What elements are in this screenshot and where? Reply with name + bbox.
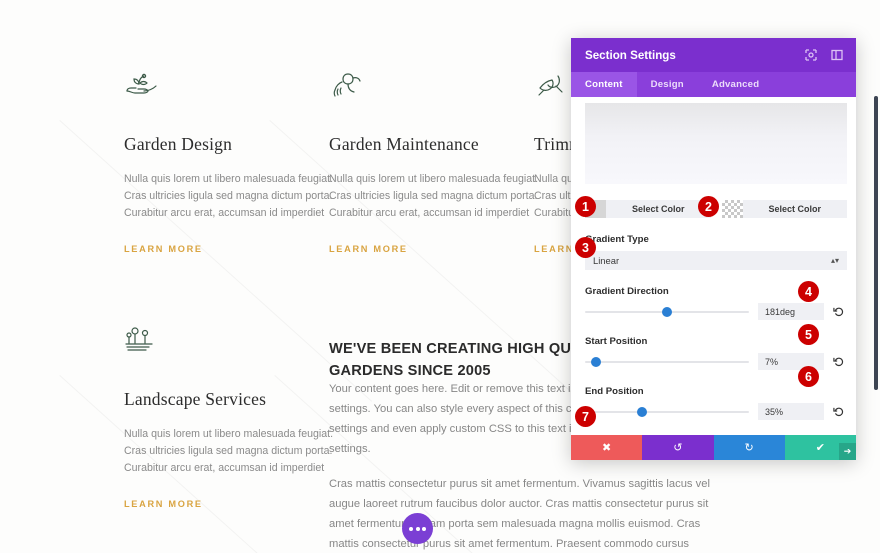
card-text-line: Cras ultricies ligula sed magna dictum p… [124, 443, 329, 460]
card-text-line: Cras ultricies ligula sed magna dictum p… [329, 188, 534, 205]
modal-header: Section Settings [571, 38, 856, 72]
step-badge-2: 2 [698, 196, 719, 217]
gradient-type-label: Gradient Type [585, 234, 847, 245]
learn-more-link[interactable]: LEARN MORE [124, 499, 329, 509]
step-badge-1: 1 [575, 196, 596, 217]
service-card-garden-maintenance: Garden Maintenance Nulla quis lorem ut l… [329, 70, 534, 254]
landscape-trees-icon [124, 325, 329, 359]
step-badge-7: 7 [575, 406, 596, 427]
hand-seedling-icon [124, 70, 329, 104]
gradient-direction-row: 181deg [585, 303, 847, 320]
gradient-color-start[interactable]: Select Color [585, 200, 711, 218]
save-button[interactable]: ✔ ➔ [785, 435, 856, 460]
slider-track [585, 361, 749, 363]
card-text-line: Cras ultricies ligula sed magna dictum p… [124, 188, 329, 205]
redo-button[interactable]: ↻ [714, 435, 785, 460]
slider-knob[interactable] [591, 357, 601, 367]
section-settings-modal: Section Settings Content Design Advanced [571, 38, 856, 460]
resize-grip-icon[interactable]: ➔ [839, 443, 856, 460]
end-position-slider[interactable] [585, 405, 749, 419]
service-card-garden-design: Garden Design Nulla quis lorem ut libero… [124, 70, 329, 254]
tab-advanced[interactable]: Advanced [698, 72, 773, 97]
reset-icon[interactable] [833, 356, 847, 367]
step-badge-5: 5 [798, 324, 819, 345]
undo-button[interactable]: ↺ [642, 435, 713, 460]
gradient-direction-slider[interactable] [585, 305, 749, 319]
expand-icon[interactable] [801, 46, 820, 65]
cancel-button[interactable]: ✖ [571, 435, 642, 460]
gradient-type-value: Linear [593, 255, 619, 266]
end-position-label: End Position [585, 386, 847, 397]
card-text-line: Nulla quis lorem ut libero malesuada feu… [124, 171, 329, 188]
gradient-direction-value[interactable]: 181deg [758, 303, 824, 320]
tab-design[interactable]: Design [637, 72, 698, 97]
modal-footer: ✖ ↺ ↻ ✔ ➔ [571, 435, 856, 460]
card-title: Garden Maintenance [329, 134, 534, 155]
slider-track [585, 411, 749, 413]
chevron-updown-icon: ▴▾ [831, 257, 839, 265]
chat-dot-icon [416, 527, 420, 531]
gradient-color-end[interactable]: Select Color [722, 200, 848, 218]
tab-content[interactable]: Content [571, 72, 637, 97]
card-text-line: Nulla quis lorem ut libero malesuada feu… [124, 426, 329, 443]
card-text-line: Nulla quis lorem ut libero malesuada feu… [329, 171, 534, 188]
body-paragraph: Cras mattis consectetur purus sit amet f… [329, 475, 729, 553]
slider-knob[interactable] [637, 407, 647, 417]
save-check-icon: ✔ [816, 441, 825, 454]
color-swatch-end-icon[interactable] [722, 200, 743, 218]
reset-icon[interactable] [833, 306, 847, 317]
start-position-slider[interactable] [585, 355, 749, 369]
learn-more-link[interactable]: LEARN MORE [329, 244, 534, 254]
step-badge-4: 4 [798, 281, 819, 302]
select-color-start-button[interactable]: Select Color [606, 200, 711, 218]
learn-more-link[interactable]: LEARN MORE [124, 244, 329, 254]
page-root: Garden Design Nulla quis lorem ut libero… [0, 0, 880, 553]
card-text-line: Curabitur arcu erat, accumsan id imperdi… [124, 205, 329, 222]
card-title: Garden Design [124, 134, 329, 155]
gradient-type-select[interactable]: Linear ▴▾ [585, 251, 847, 270]
service-card-landscape-services: Landscape Services Nulla quis lorem ut l… [124, 325, 329, 509]
reset-icon[interactable] [833, 406, 847, 417]
modal-scrollbar[interactable] [874, 96, 878, 390]
chat-dot-icon [422, 527, 426, 531]
gradient-preview [585, 103, 847, 184]
slider-knob[interactable] [662, 307, 672, 317]
end-position-row: 35% [585, 403, 847, 420]
card-title: Landscape Services [124, 389, 329, 410]
modal-title: Section Settings [585, 49, 794, 62]
card-text-line: Curabitur arcu erat, accumsan id imperdi… [329, 205, 534, 222]
card-text-line: Curabitur arcu erat, accumsan id imperdi… [124, 460, 329, 477]
watering-can-icon [329, 70, 534, 104]
select-color-end-button[interactable]: Select Color [743, 200, 848, 218]
panel-layout-icon[interactable] [827, 46, 846, 65]
chat-dot-icon [409, 527, 413, 531]
step-badge-6: 6 [798, 366, 819, 387]
step-badge-3: 3 [575, 237, 596, 258]
chat-bubble-button[interactable] [402, 513, 433, 544]
end-position-value[interactable]: 35% [758, 403, 824, 420]
modal-tabs: Content Design Advanced [571, 72, 856, 97]
